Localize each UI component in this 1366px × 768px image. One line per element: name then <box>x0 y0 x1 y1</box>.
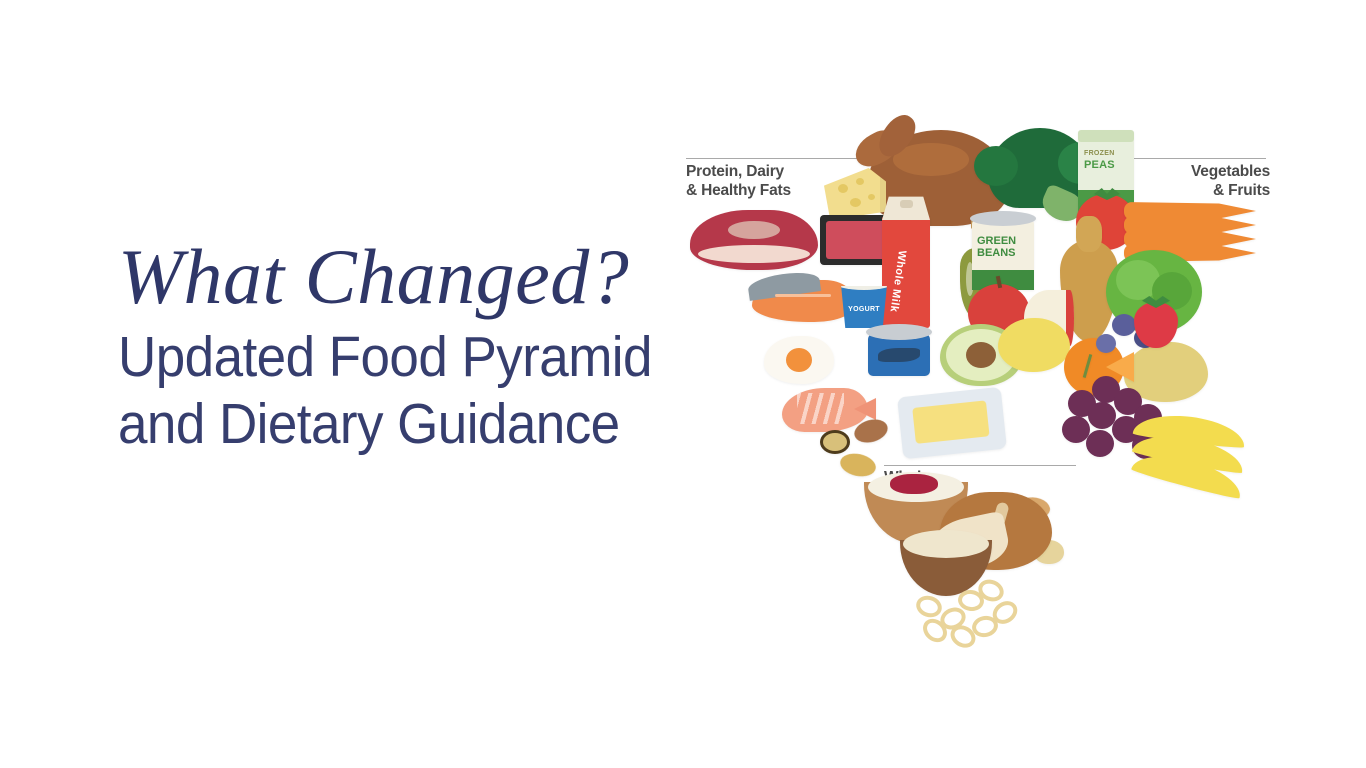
subtitle-line-2: and Dietary Guidance <box>118 391 732 458</box>
blueberry-illustration <box>1112 314 1136 336</box>
canned-tuna-illustration <box>868 334 930 376</box>
milk-carton-illustration: Whole Milk <box>882 216 930 328</box>
frozen-peas-bottom-text: PEAS <box>1084 159 1115 171</box>
bottom-divider-rule <box>884 465 1076 466</box>
broccoli-illustration <box>988 128 1092 208</box>
pistachio-illustration <box>820 430 850 454</box>
steak-illustration <box>690 210 818 270</box>
green-beans-can-illustration: GREEN BEANS <box>972 220 1034 290</box>
bananas-illustration <box>1134 410 1252 494</box>
butter-block-illustration <box>897 387 1007 460</box>
walnut-illustration <box>838 450 878 479</box>
yogurt-cup-illustration: YOGURT <box>838 286 890 328</box>
food-pyramid-illustration: Protein, Dairy & Healthy Fats Vegetables… <box>672 120 1282 630</box>
blueberry-illustration <box>1096 334 1116 353</box>
slide-subtitle: Updated Food Pyramid and Dietary Guidanc… <box>118 324 732 457</box>
frozen-peas-top-text: FROZEN <box>1084 150 1115 157</box>
cheese-wedge-illustration <box>824 168 886 220</box>
fried-egg-illustration <box>764 336 834 384</box>
yogurt-cup-text: YOGURT <box>844 306 884 313</box>
green-beans-can-text: GREEN BEANS <box>977 236 1034 259</box>
label-vegetables-fruits: Vegetables & Fruits <box>1191 163 1270 201</box>
lemon-illustration <box>998 318 1070 372</box>
milk-carton-text: Whole Milk <box>886 249 908 313</box>
subtitle-line-1: Updated Food Pyramid <box>118 324 732 391</box>
salmon-fillet-illustration <box>752 280 856 322</box>
shrimp-illustration <box>782 388 868 432</box>
label-protein-dairy-healthy-fats: Protein, Dairy & Healthy Fats <box>686 163 791 201</box>
slide-canvas: What Changed? Updated Food Pyramid and D… <box>0 0 1366 768</box>
